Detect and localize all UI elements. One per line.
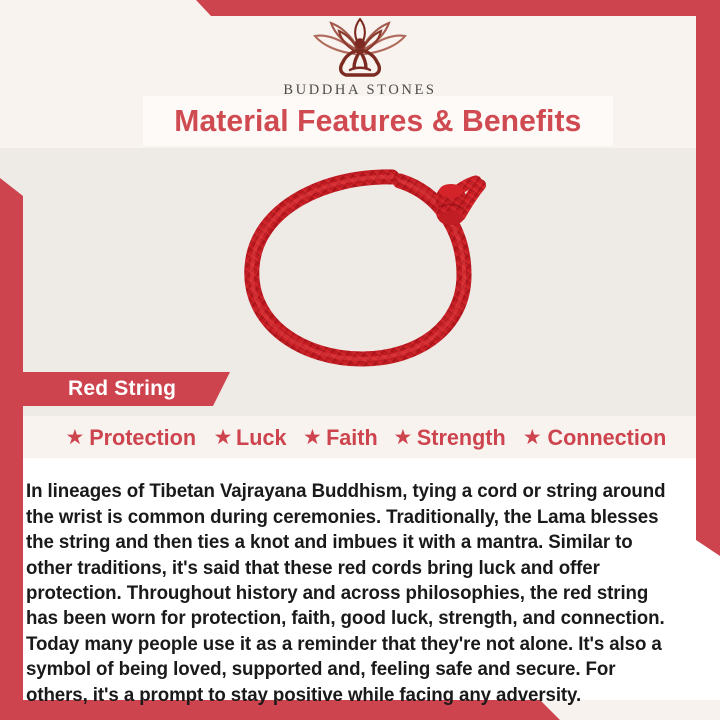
description-paragraph: In lineages of Tibetan Vajrayana Buddhis… — [26, 479, 673, 708]
infographic-card: BUDDHA STONES Material Features & Benefi… — [0, 0, 720, 720]
feature-label: Faith — [326, 425, 378, 451]
feature-item-luck: ★ Luck — [208, 425, 294, 451]
feature-item-strength: ★ Strength — [388, 425, 514, 451]
feature-item-connection: ★ Connection — [517, 425, 675, 451]
feature-label: Connection — [547, 425, 666, 451]
feature-label: Luck — [237, 425, 287, 451]
material-label-text: Red String — [22, 377, 176, 401]
star-icon: ★ — [214, 427, 233, 448]
feature-item-faith: ★ Faith — [297, 425, 385, 451]
star-icon: ★ — [523, 427, 542, 448]
lotus-meditation-icon — [293, 18, 427, 80]
feature-item-protection: ★ Protection — [60, 425, 205, 451]
star-icon: ★ — [66, 427, 85, 448]
feature-list: ★ Protection ★ Luck ★ Faith ★ Strength ★… — [22, 418, 712, 458]
star-icon: ★ — [303, 427, 322, 448]
adjustable-sliding-knot — [436, 184, 466, 225]
brand-logo: BUDDHA STONES — [0, 18, 720, 99]
page-title: Material Features & Benefits — [174, 103, 581, 139]
star-icon: ★ — [394, 427, 413, 448]
material-label-ribbon: Red String — [22, 372, 230, 406]
product-image-red-string-bracelet — [232, 155, 494, 373]
accent-bar-left — [0, 178, 23, 720]
feature-label: Protection — [90, 425, 197, 451]
page-title-band: Material Features & Benefits — [143, 96, 613, 146]
feature-label: Strength — [417, 425, 506, 451]
